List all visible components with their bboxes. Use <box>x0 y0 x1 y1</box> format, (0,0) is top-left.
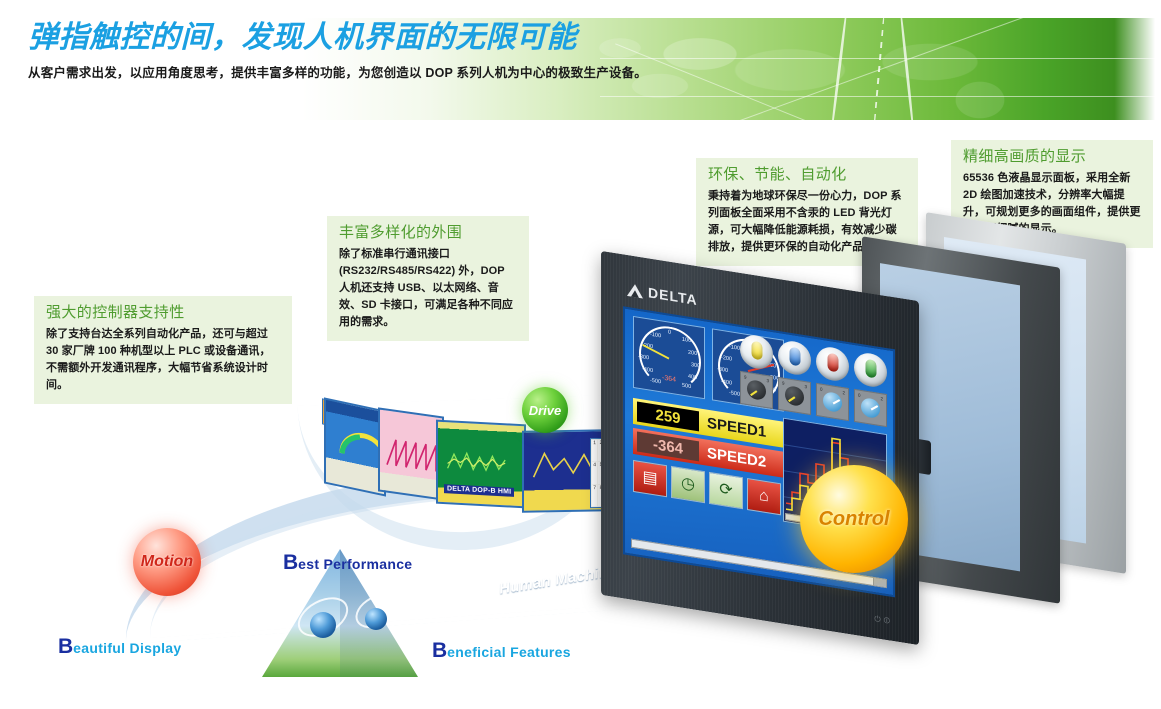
knob-1[interactable]: 9 3 <box>740 371 773 409</box>
power-icon: ⟳ <box>719 482 732 500</box>
tagline-display-rest: eautiful Display <box>73 640 181 656</box>
door-icon: ▤ <box>642 469 657 487</box>
clock-button[interactable]: ◷ <box>671 466 705 503</box>
bezel-side-tab <box>919 439 931 475</box>
tagline-display-cap: B <box>58 635 73 658</box>
tagline-features-rest: eneficial Features <box>447 644 571 660</box>
mini-sawtooth-chart <box>384 430 444 481</box>
lamp-red-icon[interactable] <box>816 345 849 383</box>
globe-icon <box>310 612 336 638</box>
knob-tick: 2 <box>842 390 845 395</box>
knob-tick: 0 <box>858 393 861 398</box>
drive-sphere: Drive <box>522 387 568 433</box>
knob-tick: 2 <box>880 396 883 401</box>
gauge-tick: 100 <box>682 337 691 344</box>
lamp-yellow-icon[interactable] <box>740 333 773 371</box>
callout-controller-heading: 强大的控制器支持性 <box>46 304 280 322</box>
gauge-tick: -400 <box>642 366 653 374</box>
callout-peripheral: 丰富多样化的外围 除了标准串行通讯接口 (RS232/RS485/RS422) … <box>327 216 529 341</box>
gauge-tick: 400 <box>688 374 697 381</box>
mini-screen-trend <box>378 407 444 500</box>
knob-tick: 0 <box>820 387 823 392</box>
clock-icon: ◷ <box>681 475 695 493</box>
knob-tick: 3 <box>766 378 769 383</box>
gauge-tick: -400 <box>721 379 732 387</box>
readout-speed1-label: SPEED1 <box>707 414 766 440</box>
home-button[interactable]: ⌂ <box>747 478 781 515</box>
tagline-best-rest: est Performance <box>298 556 412 572</box>
gauge-tick: -500 <box>729 390 740 398</box>
gauge-left[interactable]: -100 0 100 -200 200 -300 300 -400 400 -5… <box>633 316 705 399</box>
globe-icon <box>365 608 387 630</box>
delta-wordmark: DELTA <box>648 284 698 308</box>
power-indicator-marks: ⏻⏼ <box>874 614 893 627</box>
readout-speed2-value: -364 <box>637 432 699 462</box>
gauge-tick: -500 <box>650 378 661 386</box>
mini-zigzag-chart <box>446 440 510 483</box>
callout-peripheral-heading: 丰富多样化的外围 <box>339 224 517 242</box>
tagline-beautiful-display: Beautiful Display <box>58 635 181 659</box>
knob-3[interactable]: 0 2 <box>816 383 849 421</box>
knob-2-dial <box>785 385 804 407</box>
callout-controller-body: 除了支持台达全系列自动化产品，还可与超过 30 家厂牌 100 种机型以上 PL… <box>46 326 280 394</box>
home-icon: ⌂ <box>759 488 769 506</box>
mini-screen-gauge <box>324 397 386 496</box>
motion-sphere: Motion <box>133 528 201 596</box>
tagline-best-performance: Best Performance <box>283 551 412 575</box>
banner-subtitle: 从客户需求出发，以应用角度思考，提供丰富多样的功能，为您创造以 DOP 系列人机… <box>28 62 647 81</box>
knob-3-dial <box>823 391 842 413</box>
lamp-green-icon[interactable] <box>854 351 887 389</box>
delta-logo: DELTA <box>627 281 698 308</box>
callout-display-heading: 精细高画质的显示 <box>963 148 1141 166</box>
hmi-panel-main: DELTA -100 0 100 -200 200 -300 300 -400 … <box>601 251 919 645</box>
banner-title: 弹指触控的间，发现人机界面的无限可能 <box>28 12 577 56</box>
readout-speed1-value: 259 <box>637 402 699 432</box>
callout-eco-heading: 环保、节能、自动化 <box>708 166 906 184</box>
lamp-blue-icon[interactable] <box>778 339 811 377</box>
callout-controller: 强大的控制器支持性 除了支持台达全系列自动化产品，还可与超过 30 家厂牌 10… <box>34 296 292 404</box>
delta-triangle-icon <box>627 282 643 298</box>
door-button[interactable]: ▤ <box>633 460 667 497</box>
gauge-tick: 500 <box>682 383 691 390</box>
tagline-beneficial-features: Beneficial Features <box>432 639 571 663</box>
knob-tick: 9 <box>782 380 785 385</box>
readout-speed2-label: SPEED2 <box>707 444 766 470</box>
knob-tick: 3 <box>804 384 807 389</box>
callout-peripheral-body: 除了标准串行通讯接口 (RS232/RS485/RS422) 外，DOP 人机还… <box>339 246 517 331</box>
gauge-tick: 200 <box>688 350 697 357</box>
knob-4-dial <box>861 397 880 419</box>
power-button[interactable]: ⟳ <box>709 472 743 509</box>
knob-tick: 9 <box>744 374 747 379</box>
knob-2[interactable]: 9 3 <box>778 377 811 415</box>
knob-4[interactable]: 0 2 <box>854 389 887 427</box>
latitude-line <box>600 96 1160 97</box>
gauge-tick: 300 <box>691 362 700 369</box>
tagline-best-cap: B <box>283 551 298 574</box>
control-sphere: Control <box>800 465 908 573</box>
knob-1-dial <box>747 379 766 401</box>
filmstrip: DELTA DOP-B HMI 123 456 789 <box>318 380 618 530</box>
brochure-page: 弹指触控的间，发现人机界面的无限可能 从客户需求出发，以应用角度思考，提供丰富多… <box>0 0 1161 709</box>
tagline-features-cap: B <box>432 639 447 662</box>
gauge-tick: 0 <box>668 329 671 335</box>
